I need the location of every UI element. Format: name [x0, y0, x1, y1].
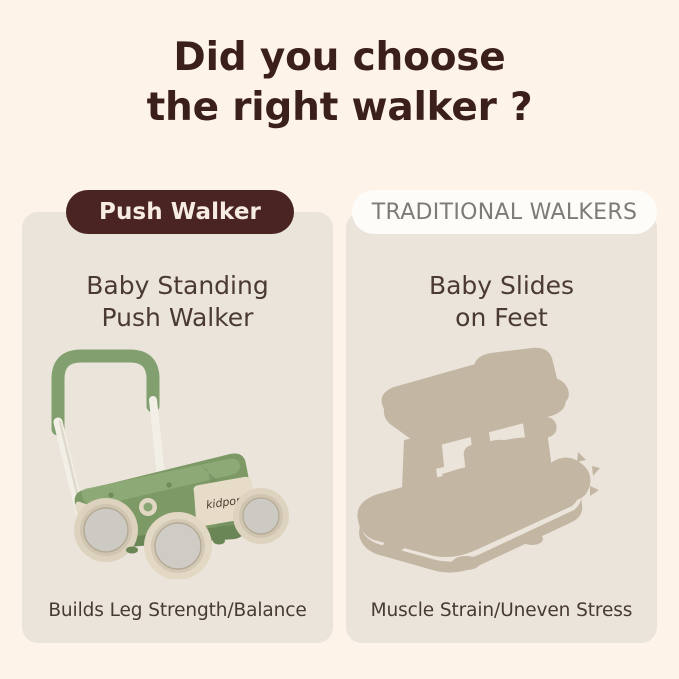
badge-push-walker-label: Push Walker	[99, 199, 261, 225]
card-traditional-walker: TRADITIONAL WALKERS Baby Slides on Feet	[346, 212, 657, 643]
card-traditional-walker-title-line-1: Baby Slides	[429, 271, 574, 300]
card-push-walker-title-line-1: Baby Standing	[86, 271, 268, 300]
traditional-walker-illustration	[346, 334, 657, 579]
badge-push-walker: Push Walker	[66, 190, 294, 234]
card-push-walker: Push Walker Baby Standing Push Walker	[22, 212, 333, 643]
page-title-line-2: the right walker ?	[0, 83, 679, 133]
page-title-line-1: Did you choose	[0, 33, 679, 83]
comparison-infographic: Did you choose the right walker ? Push W…	[0, 0, 679, 679]
badge-traditional-walkers: TRADITIONAL WALKERS	[352, 190, 657, 234]
comparison-cards: Push Walker Baby Standing Push Walker	[22, 212, 657, 643]
card-push-walker-title-line-2: Push Walker	[22, 302, 333, 334]
card-traditional-walker-caption: Muscle Strain/Uneven Stress	[346, 600, 657, 621]
push-walker-illustration: kidpop	[22, 334, 333, 579]
card-traditional-walker-title-line-2: on Feet	[346, 302, 657, 334]
page-title: Did you choose the right walker ?	[0, 33, 679, 133]
badge-traditional-walkers-label: TRADITIONAL WALKERS	[372, 200, 637, 225]
card-traditional-walker-title: Baby Slides on Feet	[346, 270, 657, 334]
card-push-walker-title: Baby Standing Push Walker	[22, 270, 333, 334]
card-push-walker-caption: Builds Leg Strength/Balance	[22, 600, 333, 621]
